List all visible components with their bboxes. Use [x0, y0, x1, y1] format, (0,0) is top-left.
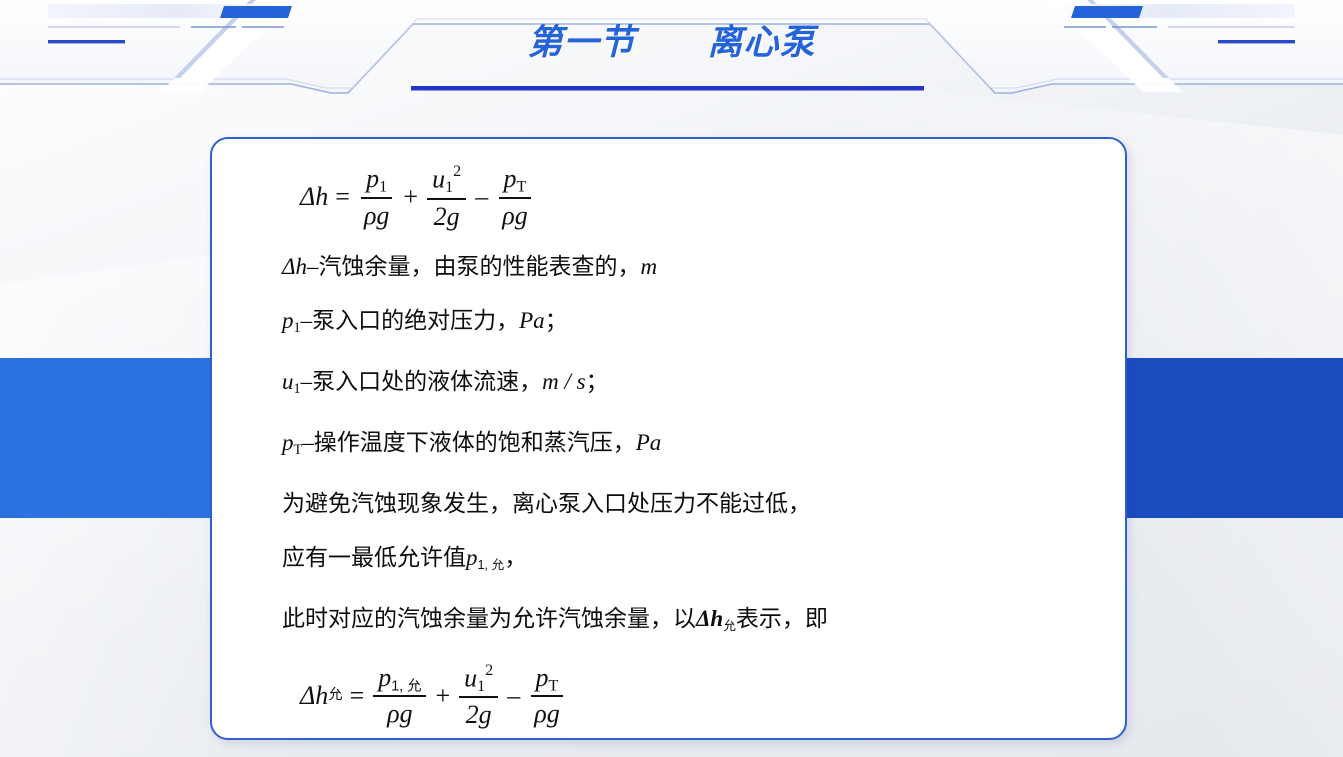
formula-2-term-2: u12 2g — [459, 662, 498, 729]
formula-1-term-1-denominator: ρg — [359, 199, 394, 230]
paragraph-3-prefix: 此时对应的汽蚀余量为允许汽蚀余量，以 — [282, 606, 696, 631]
content-card: Δh = p1 ρg + u12 2g – pT ρg — [210, 137, 1127, 740]
formula-1-term-2-denominator: 2g — [429, 200, 465, 231]
paragraph-2-symbol: p — [466, 545, 478, 570]
formula-2-op-1: + — [428, 683, 457, 709]
formula-1-term-3-numerator: pT — [499, 164, 532, 199]
paragraph-3-symbol: Δh — [696, 606, 723, 631]
formula-2-equals: = — [343, 683, 372, 709]
accent-band-right — [1126, 358, 1343, 518]
paragraph-2-suffix: ， — [504, 545, 527, 570]
accent-band-left — [0, 358, 213, 518]
formula-1-term-2: u12 2g — [427, 163, 466, 230]
formula-2-op-2: – — [500, 683, 527, 709]
formula-1-term-1-numerator: p1 — [361, 164, 392, 199]
formula-2-expression: Δh允 = p1, 允 ρg + u12 2g – pT ρg — [300, 662, 567, 729]
paragraph-2-symbol-sub: 1, 允 — [478, 558, 505, 572]
definition-text: 泵入口处的液体流速， — [312, 369, 542, 394]
formula-2-term-2-numerator: u12 — [459, 662, 498, 698]
definition-unit: m / s — [542, 369, 585, 394]
formula-2-term-3: pT ρg — [529, 663, 564, 729]
formula-1-op-2: – — [468, 184, 495, 210]
definition-unit: Pa — [519, 308, 545, 333]
definition-symbol-sub: T — [294, 442, 303, 458]
formula-cavitation-margin: Δh = p1 ρg + u12 2g – pT ρg — [300, 163, 1095, 231]
definition-tail: ； — [586, 369, 609, 394]
definition-tail: ； — [545, 308, 568, 333]
paragraph-3-symbol-sub: 允 — [723, 619, 736, 633]
definition-line: pT–操作温度下液体的饱和蒸汽压，Pa — [282, 421, 1095, 472]
definition-text: 泵入口的绝对压力， — [312, 308, 519, 333]
paragraph-allowable-margin: 此时对应的汽蚀余量为允许汽蚀余量，以Δh允表示，即 — [282, 597, 1095, 648]
paragraph-2-prefix: 应有一最低允许值 — [282, 545, 466, 570]
slide-root: 第一节 离心泵 Δh = p1 ρg + u12 2g – — [0, 0, 1343, 757]
formula-1-expression: Δh = p1 ρg + u12 2g – pT ρg — [300, 163, 535, 230]
formula-allowable-cavitation-margin: Δh允 = p1, 允 ρg + u12 2g – pT ρg — [300, 662, 1095, 730]
slide-title: 第一节 离心泵 — [0, 14, 1343, 65]
paragraph-minimum-allowable: 应有一最低允许值p1, 允， — [282, 536, 1095, 587]
content-body: Δh = p1 ρg + u12 2g – pT ρg — [212, 139, 1125, 740]
formula-1-lhs: Δh — [300, 184, 328, 210]
formula-2-term-3-denominator: ρg — [529, 697, 564, 728]
definition-dash: – — [302, 430, 314, 455]
definition-line: p1–泵入口的绝对压力，Pa； — [282, 299, 1095, 350]
definition-symbol: p — [282, 430, 294, 455]
definition-dash: – — [301, 369, 313, 394]
definition-symbol: p — [282, 308, 294, 333]
paragraph-avoid-cavitation: 为避免汽蚀现象发生，离心泵入口处压力不能过低， — [282, 482, 1095, 526]
definition-text: 操作温度下液体的饱和蒸汽压， — [314, 430, 636, 455]
definition-text: 汽蚀余量，由泵的性能表查的， — [319, 254, 641, 279]
definition-line: u1–泵入口处的液体流速，m / s； — [282, 360, 1095, 411]
definition-dash: – — [301, 308, 313, 333]
formula-2-lhs-sub: 允 — [328, 688, 342, 702]
formula-2-term-1-numerator: p1, 允 — [373, 663, 426, 696]
definition-unit: m — [641, 254, 658, 279]
formula-1-term-2-numerator: u12 — [427, 163, 466, 199]
definition-line: Δh–汽蚀余量，由泵的性能表查的，m — [282, 245, 1095, 289]
formula-1-op-1: + — [396, 184, 425, 210]
definition-dash: – — [307, 254, 319, 279]
formula-2-term-1-denominator: ρg — [382, 697, 417, 728]
formula-2-term-1: p1, 允 ρg — [373, 663, 426, 727]
formula-2-term-2-denominator: 2g — [461, 698, 497, 729]
definition-unit: Pa — [636, 430, 662, 455]
definition-symbol: Δh — [282, 254, 307, 279]
formula-1-equals: = — [328, 184, 357, 210]
formula-2-lhs: Δh — [300, 683, 328, 709]
formula-1-term-3: pT ρg — [497, 164, 532, 230]
definition-symbol-sub: 1 — [294, 381, 301, 397]
formula-2-term-3-numerator: pT — [531, 663, 564, 698]
paragraph-3-suffix: 表示，即 — [736, 606, 828, 631]
formula-1-term-3-denominator: ρg — [497, 199, 532, 230]
definition-symbol: u — [282, 369, 294, 394]
formula-1-term-1: p1 ρg — [359, 164, 394, 230]
definition-symbol-sub: 1 — [294, 320, 301, 336]
